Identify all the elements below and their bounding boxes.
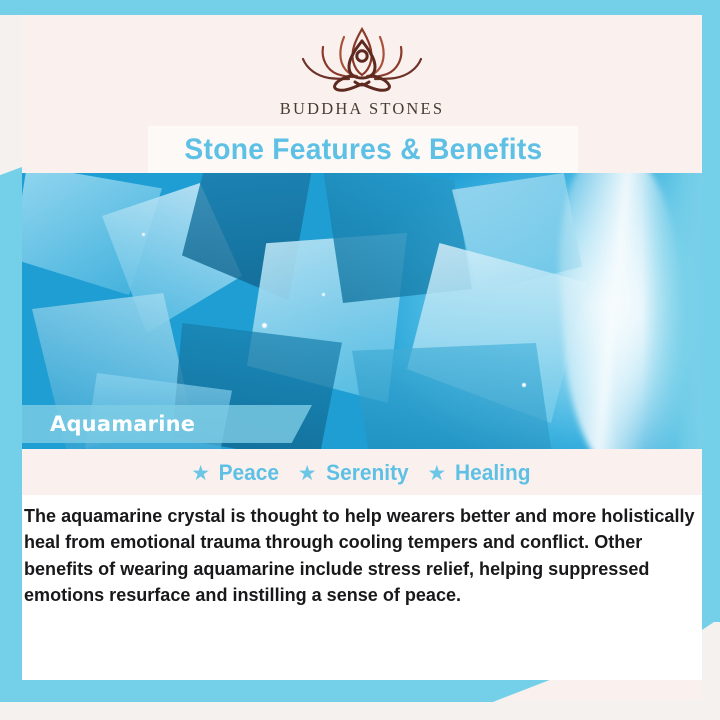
keyword-row: ★ Peace ★ Serenity ★ Healing: [22, 460, 702, 486]
keyword-label: Peace: [219, 460, 279, 486]
left-blue-bar: [0, 175, 22, 702]
star-icon: ★: [298, 463, 317, 484]
star-icon: ★: [427, 463, 446, 484]
right-blue-taper: [702, 600, 720, 630]
page-title: Stone Features & Benefits: [184, 133, 542, 167]
keyword-label: Serenity: [326, 460, 408, 486]
star-icon: ★: [191, 463, 210, 484]
keyword-healing: ★ Healing: [427, 460, 532, 486]
keyword-serenity: ★ Serenity: [298, 460, 411, 486]
lotus-meditation-icon: [287, 23, 437, 95]
brand-logo: BUDDHA STONES: [22, 23, 702, 119]
keyword-label: Healing: [455, 460, 530, 486]
top-blue-bar: [0, 0, 720, 15]
right-blue-bar: [702, 0, 720, 622]
stone-name-label: Aquamarine: [50, 412, 195, 436]
keyword-peace: ★ Peace: [191, 460, 280, 486]
description-text: The aquamarine crystal is thought to hel…: [24, 503, 703, 609]
title-banner: Stone Features & Benefits: [148, 126, 578, 173]
stone-name-banner: Aquamarine: [22, 405, 312, 443]
brand-name: BUDDHA STONES: [280, 99, 444, 119]
poster-root: BUDDHA STONES Stone Features & Benefits: [0, 0, 720, 720]
description-panel: The aquamarine crystal is thought to hel…: [22, 495, 702, 680]
